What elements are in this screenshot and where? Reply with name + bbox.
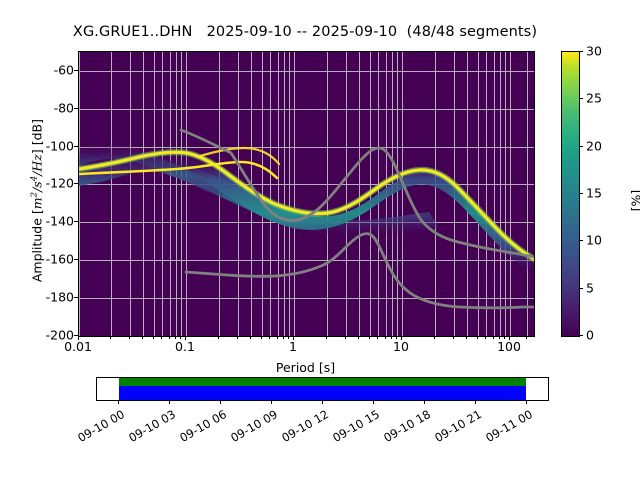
x-tick-label: 100 (497, 339, 521, 354)
x-tick-mark-minor (237, 336, 238, 339)
x-tick-mark-minor (142, 336, 143, 339)
colorbar-tick-label: 20 (586, 139, 602, 154)
y-tick-label: -180 (46, 290, 74, 305)
y-tick-mark (74, 146, 78, 147)
x-tick-mark-minor (153, 336, 154, 339)
timeline-tick-mark (220, 400, 221, 404)
x-tick-label: 10 (393, 339, 409, 354)
y-tick-label: -80 (54, 101, 74, 116)
x-tick-mark-minor (269, 336, 270, 339)
y-tick-mark (74, 221, 78, 222)
x-tick-mark-minor (358, 336, 359, 339)
timeline-tick-mark (271, 400, 272, 404)
x-tick-mark-minor (345, 336, 346, 339)
x-tick-mark-minor (466, 336, 467, 339)
colorbar[interactable] (561, 51, 580, 337)
x-tick-mark-minor (526, 336, 527, 339)
ppsd-density-svg (79, 52, 534, 336)
colorbar-tick-mark (579, 146, 583, 147)
x-tick-mark-minor (493, 336, 494, 339)
timeline-tick-mark (322, 400, 323, 404)
y-axis-label-prefix: Amplitude [ (30, 209, 45, 282)
y-tick-mark (74, 108, 78, 109)
colorbar-tick-label: 25 (586, 91, 602, 106)
y-tick-label: -140 (46, 214, 74, 229)
y-axis-label-math-mid: /s (30, 181, 45, 192)
x-tick-mark-minor (434, 336, 435, 339)
y-tick-label: -160 (46, 252, 74, 267)
x-tick-mark-minor (277, 336, 278, 339)
colorbar-label: [%] (629, 141, 640, 261)
timeline-psd-coverage-bar[interactable] (119, 378, 526, 386)
timeline-tick-mark (424, 400, 425, 404)
timeline-tick-label: 09-10 15 (325, 407, 382, 448)
colorbar-tick-mark (579, 98, 583, 99)
colorbar-tick-mark (579, 240, 583, 241)
colorbar-tick-mark (579, 51, 583, 52)
y-tick-mark (74, 259, 78, 260)
timeline-tick-mark (526, 400, 527, 404)
y-axis-label-sup2: 4 (29, 176, 39, 181)
y-tick-mark (74, 297, 78, 298)
x-tick-mark-minor (326, 336, 327, 339)
figure-title: XG.GRUE1..DHN 2025-09-10 -- 2025-09-10 (… (0, 24, 610, 40)
colorbar-tick-mark (579, 288, 583, 289)
colorbar-tick-label: 0 (586, 328, 594, 343)
x-tick-mark-minor (485, 336, 486, 339)
y-tick-label: -100 (46, 139, 74, 154)
colorbar-tick-label: 5 (586, 281, 594, 296)
x-tick-mark-minor (477, 336, 478, 339)
timeline-tick-label: 09-10 18 (376, 407, 433, 448)
x-tick-mark-minor (369, 336, 370, 339)
x-tick-label: 0.1 (175, 339, 195, 354)
x-tick-mark-minor (169, 336, 170, 339)
x-tick-mark-minor (261, 336, 262, 339)
x-tick-mark-minor (129, 336, 130, 339)
colorbar-tick-mark (579, 335, 583, 336)
timeline-data-coverage-bar[interactable] (119, 386, 526, 400)
x-tick-mark-minor (377, 336, 378, 339)
x-tick-mark-minor (250, 336, 251, 339)
x-tick-mark-minor (218, 336, 219, 339)
timeline-tick-label: 09-10 03 (121, 407, 178, 448)
x-tick-mark-minor (391, 336, 392, 339)
timeline-tick-mark (373, 400, 374, 404)
y-tick-mark (74, 183, 78, 184)
x-tick-label: 0.01 (64, 339, 92, 354)
timeline-tick-label: 09-10 09 (223, 407, 280, 448)
x-tick-mark-minor (283, 336, 284, 339)
x-tick-mark-minor (385, 336, 386, 339)
timeline-tick-label: 09-10 12 (274, 407, 331, 448)
x-tick-mark-minor (161, 336, 162, 339)
y-axis-label-suffix: ] [dB] (30, 119, 45, 154)
low-noise-model-curve (186, 234, 534, 308)
y-axis-label-math-end: /Hz (30, 154, 45, 176)
colorbar-tick-mark (579, 193, 583, 194)
y-axis-label: Amplitude [m2/s4/Hz] [dB] (29, 61, 44, 341)
colorbar-tick-label: 30 (586, 44, 602, 59)
x-tick-mark-minor (453, 336, 454, 339)
y-tick-label: -120 (46, 176, 74, 191)
ppsd-plot-area[interactable] (78, 51, 535, 337)
timeline-tick-label: 09-10 06 (172, 407, 229, 448)
timeline-tick-mark (475, 400, 476, 404)
colorbar-tick-label: 10 (586, 233, 602, 248)
x-tick-label: 1 (289, 339, 297, 354)
timeline-tick-label: 09-11 00 (478, 407, 535, 448)
timeline-tick-label: 09-10 00 (70, 407, 127, 448)
x-axis-label: Period [s] (78, 360, 533, 375)
y-axis-label-sup1: 2 (29, 192, 39, 197)
timeline-tick-mark (169, 400, 170, 404)
colorbar-tick-label: 15 (586, 186, 602, 201)
timeline-coverage-axes[interactable] (96, 377, 549, 401)
x-tick-mark-minor (110, 336, 111, 339)
y-axis-label-math: m (30, 197, 45, 209)
timeline-tick-label: 09-10 21 (427, 407, 484, 448)
y-tick-mark (74, 70, 78, 71)
timeline-tick-mark (118, 400, 119, 404)
y-tick-label: -60 (54, 63, 74, 78)
